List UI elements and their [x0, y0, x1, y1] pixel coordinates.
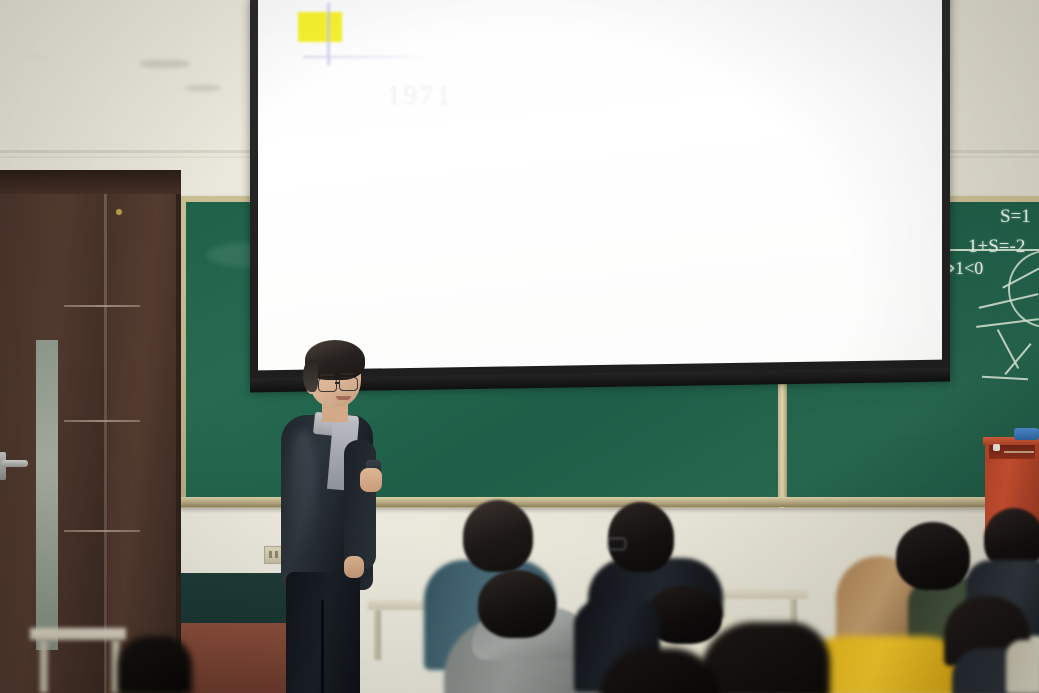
student-bottom-left [118, 636, 192, 693]
student-black-jacket-head [608, 502, 674, 572]
door-trim-line-1 [64, 305, 140, 307]
wall-mark-1 [140, 60, 190, 68]
wall-mark-2 [185, 85, 221, 91]
presenter-hand-left [344, 556, 364, 578]
door-seam [104, 194, 107, 693]
presenter-brow-right [340, 373, 354, 375]
student-olive-head [896, 522, 970, 590]
presenter-mouth [336, 396, 351, 400]
blue-bottle-cap[interactable] [1014, 428, 1039, 440]
door-glass-panel [36, 340, 58, 650]
classroom-scene: ∞ ₈ S=1 1+S=-2 ⇒1<0 1971 [0, 0, 1039, 693]
presenter-brow-left [320, 374, 334, 376]
slide-year-text: 1971 [387, 80, 453, 111]
student-front-light-body [1006, 640, 1039, 693]
glasses-lens-right-icon [339, 377, 358, 391]
door-trim-line-3 [64, 530, 140, 532]
student-teal-hoodie-head [463, 500, 533, 572]
presenter-leg-seam [321, 600, 324, 693]
student-glasses-icon [607, 538, 626, 550]
student-grey-hoodie-head [478, 570, 556, 638]
slide-logo-icon [298, 12, 342, 42]
door-trim-line-2 [64, 420, 140, 422]
pointer-stick[interactable] [1004, 451, 1034, 453]
glasses-lens-left-icon [318, 378, 337, 392]
door-header [0, 170, 181, 194]
presenter-jacket-highlight [290, 430, 316, 560]
glasses-bridge-icon [335, 382, 340, 384]
wall-mark-3 [25, 55, 47, 60]
door-peephole-icon [116, 209, 122, 215]
slide-crosshair-horizontal-icon [303, 56, 427, 58]
presenter-hair-side [303, 360, 318, 392]
door-leaf-right[interactable] [108, 194, 176, 693]
presenter-hand-right [360, 468, 382, 492]
door-handle[interactable] [2, 460, 28, 467]
chalk-piece[interactable] [993, 444, 1000, 451]
